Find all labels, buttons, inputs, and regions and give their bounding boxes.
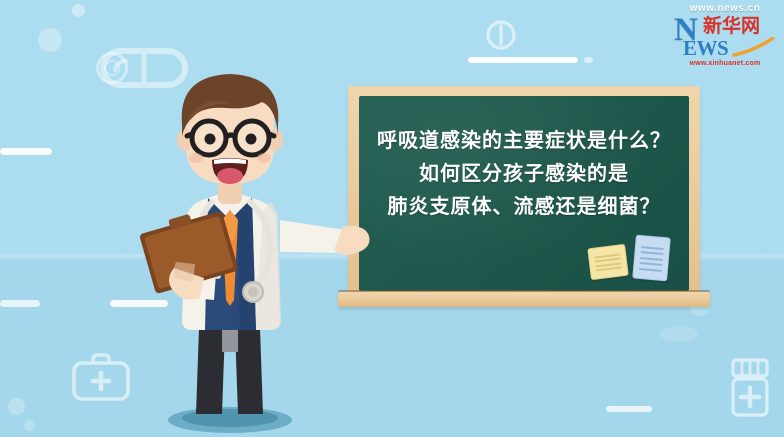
sticky-note-lines bbox=[639, 242, 665, 275]
watermark-url-bottom: www.xinhuanet.com bbox=[672, 60, 778, 67]
sticky-note-yellow bbox=[587, 244, 629, 280]
video-frame: 呼吸道感染的主要症状是什么？ 如何区分孩子感染的是 肺炎支原体、流感还是细菌？ bbox=[0, 0, 784, 437]
accent-rule bbox=[584, 57, 593, 63]
doctor-eye-right bbox=[246, 134, 257, 145]
bubble-decoration bbox=[8, 398, 25, 415]
blackboard: 呼吸道感染的主要症状是什么？ 如何区分孩子感染的是 肺炎支原体、流感还是细菌？ bbox=[348, 86, 700, 300]
sticky-note-blue bbox=[632, 235, 671, 282]
doctor-tongue bbox=[217, 168, 243, 184]
pill-bottle-icon bbox=[728, 357, 772, 419]
watermark-logo: N 新华网 EWS bbox=[672, 15, 778, 60]
blackboard-ledge bbox=[338, 292, 710, 307]
blackboard-line-2: 如何区分孩子感染的是 bbox=[419, 157, 629, 190]
xinhua-watermark: www.news.cn N 新华网 EWS www.xinhuanet.com bbox=[672, 4, 778, 67]
doctor-cheek-right bbox=[257, 153, 271, 163]
medical-bag-icon bbox=[70, 352, 132, 406]
doctor-character bbox=[130, 62, 380, 437]
doctor-cheek-left bbox=[189, 153, 203, 163]
accent-rule bbox=[0, 148, 52, 155]
bubble-decoration bbox=[38, 28, 62, 52]
sticky-note-lines bbox=[594, 251, 622, 273]
bubble-decoration bbox=[24, 420, 35, 431]
swoosh-icon bbox=[730, 37, 776, 61]
accent-rule bbox=[468, 57, 578, 63]
doctor-eye-left bbox=[205, 134, 216, 145]
watermark-brand-cn: 新华网 bbox=[703, 16, 760, 37]
accent-rule bbox=[0, 300, 40, 307]
blackboard-line-3: 肺炎支原体、流感还是细菌？ bbox=[388, 190, 661, 223]
bubble-decoration bbox=[660, 326, 698, 342]
thermometer-icon bbox=[484, 18, 518, 52]
bubble-decoration bbox=[72, 4, 85, 17]
accent-rule bbox=[606, 406, 652, 412]
blackboard-line-1: 呼吸道感染的主要症状是什么？ bbox=[377, 124, 671, 157]
watermark-brand-en: EWS bbox=[683, 38, 728, 59]
